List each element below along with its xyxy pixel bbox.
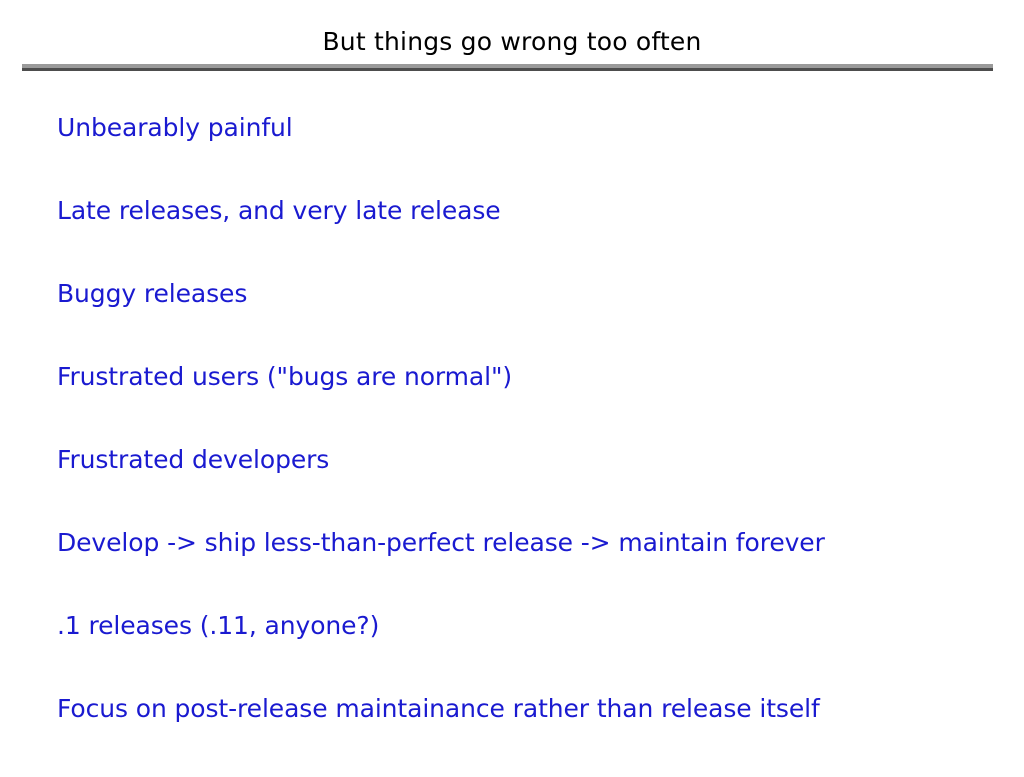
list-item: Late releases, and very late release [57, 196, 997, 279]
list-item: Buggy releases [57, 279, 997, 362]
list-item: Focus on post-release maintainance rathe… [57, 694, 997, 777]
list-item: Develop -> ship less-than-perfect releas… [57, 528, 997, 611]
slide-canvas: But things go wrong too often Unbearably… [0, 0, 1024, 768]
list-item: Frustrated developers [57, 445, 997, 528]
list-item: Unbearably painful [57, 113, 997, 196]
title-divider-rule [22, 64, 993, 70]
slide-body-list: Unbearably painful Late releases, and ve… [57, 113, 997, 777]
page-title: But things go wrong too often [0, 27, 1024, 57]
list-item: .1 releases (.11, anyone?) [57, 611, 997, 694]
list-item: Frustrated users ("bugs are normal") [57, 362, 997, 445]
divider-dark-band [22, 68, 993, 71]
